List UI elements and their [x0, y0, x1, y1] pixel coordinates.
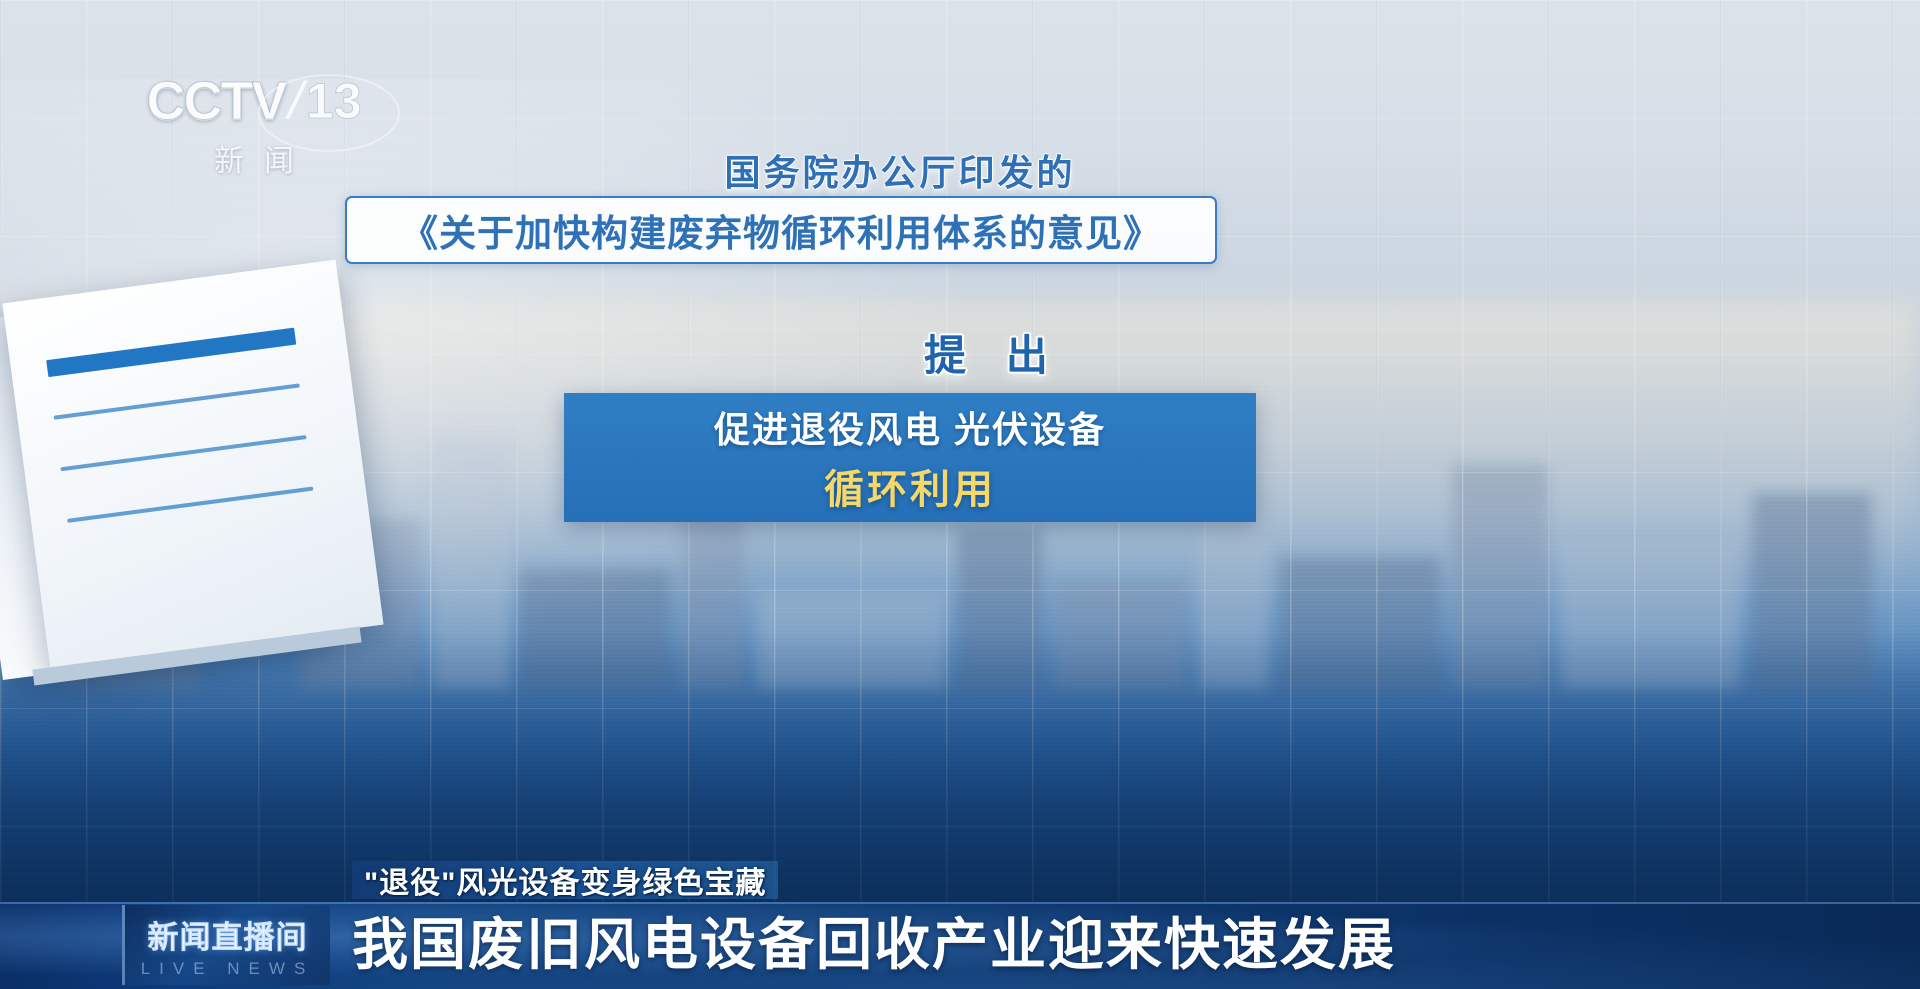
- proposes-label: 提 出: [0, 322, 1920, 383]
- broadcast-frame: CCTV / 13 新闻 国务院办公厅印发的 《关于加快构建废弃物循环利用体系的…: [0, 0, 1920, 989]
- policy-statement-panel: 促进退役风电 光伏设备 循环利用: [564, 393, 1256, 522]
- lower-third-headline: 我国废旧风电设备回收产业迎来快速发展: [352, 900, 1396, 981]
- program-logo: 新闻直播间 LIVE NEWS: [122, 905, 330, 985]
- program-name-cn: 新闻直播间: [148, 912, 308, 957]
- policy-statement-line-1: 促进退役风电 光伏设备: [714, 401, 1106, 453]
- issuer-label: 国务院办公厅印发的: [0, 144, 1920, 196]
- document-page-front: [2, 260, 383, 669]
- lower-third-kicker: "退役"风光设备变身绿色宝藏: [352, 861, 778, 899]
- policy-statement-highlight: 循环利用: [824, 457, 996, 515]
- document-title: 《关于加快构建废弃物循环利用体系的意见》: [401, 203, 1161, 257]
- lower-third-kicker-text: "退役"风光设备变身绿色宝藏: [364, 858, 766, 902]
- document-title-box: 《关于加快构建废弃物循环利用体系的意见》: [345, 196, 1217, 264]
- logo-ellipse-icon: [258, 74, 400, 152]
- program-name-en: LIVE NEWS: [141, 959, 315, 979]
